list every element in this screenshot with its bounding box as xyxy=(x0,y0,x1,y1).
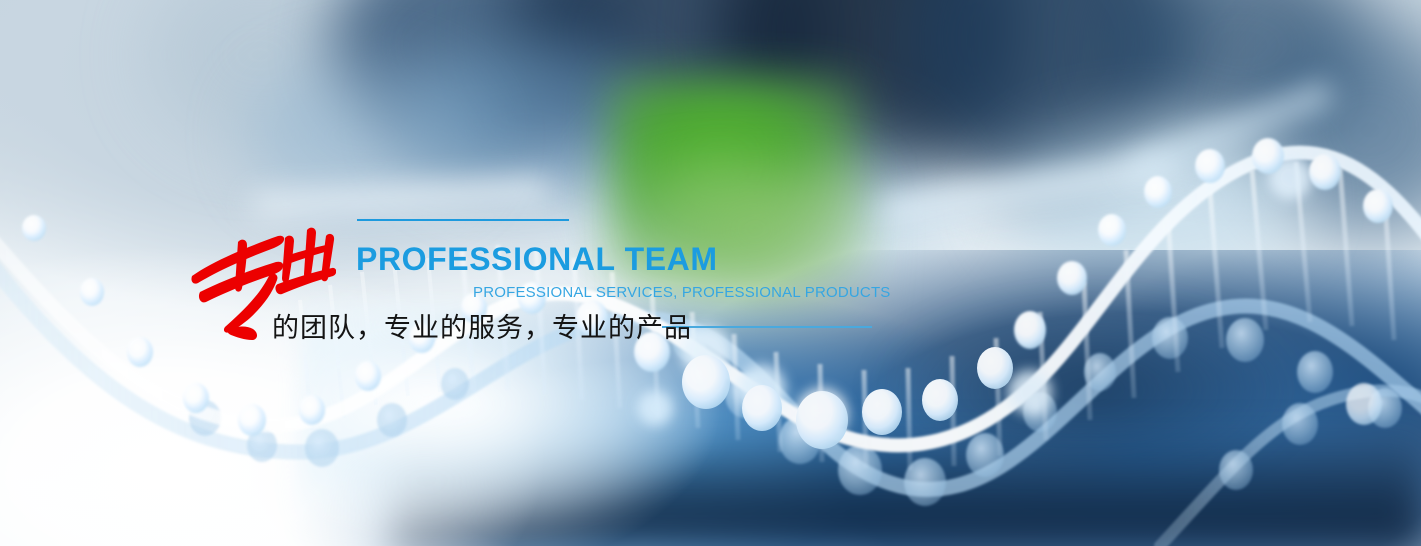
decorative-rule-bottom xyxy=(662,326,872,328)
decorative-rule-top xyxy=(357,219,569,221)
professional-team-banner: PROFESSIONAL TEAM PROFESSIONAL SERVICES,… xyxy=(0,0,1421,546)
headline-title-en: PROFESSIONAL TEAM xyxy=(356,241,718,278)
headline-subtitle-en: PROFESSIONAL SERVICES, PROFESSIONAL PROD… xyxy=(473,284,891,301)
banner-content: PROFESSIONAL TEAM PROFESSIONAL SERVICES,… xyxy=(0,0,1421,546)
headline-tagline-cn: 的团队，专业的服务，专业的产品 xyxy=(272,306,692,345)
